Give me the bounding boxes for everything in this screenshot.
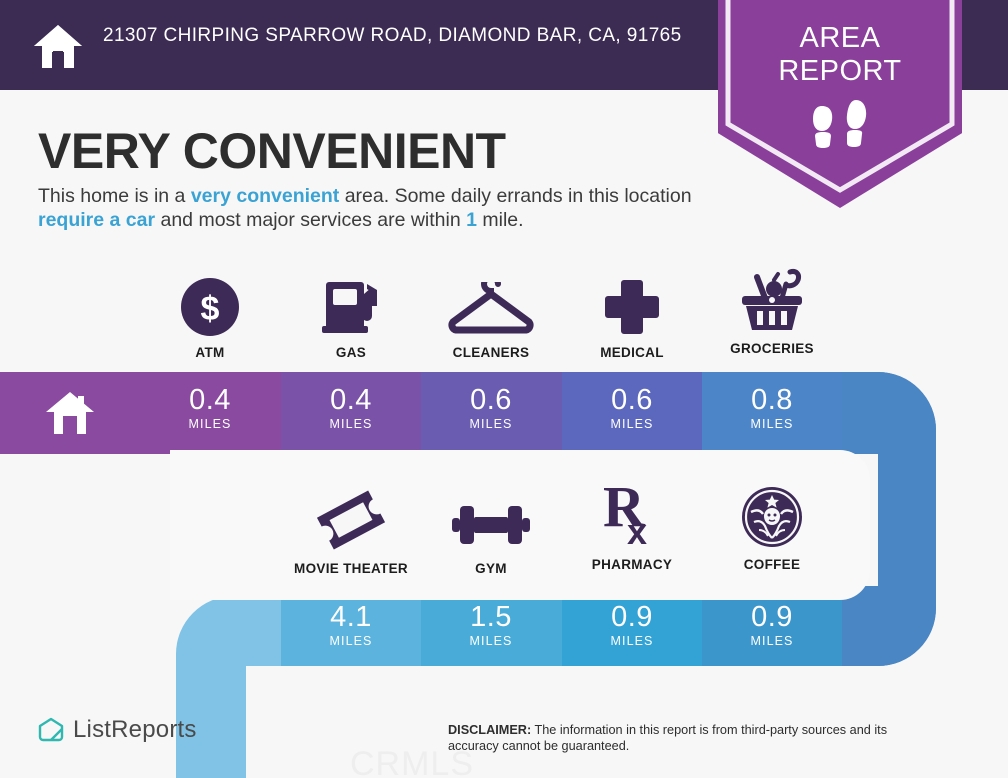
poi-coffee: COFFEE (702, 484, 842, 572)
poi-label-groceries: GROCERIES (702, 341, 842, 356)
poi-label-pharmacy: PHARMACY (562, 557, 702, 572)
poi-pharmacy: R x PHARMACY (562, 484, 702, 572)
property-address: 21307 CHIRPING SPARROW ROAD, DIAMOND BAR… (103, 22, 683, 49)
svg-text:x: x (627, 511, 647, 548)
summary-paragraph: This home is in a very convenient area. … (38, 184, 718, 232)
poi-label-gym: GYM (421, 561, 561, 576)
distance-value-gas: 0.4 (281, 384, 421, 416)
coffee-siren-icon (702, 484, 842, 548)
distance-gas: 0.4 MILES (281, 384, 421, 431)
poi-atm: $ ATM (140, 272, 280, 360)
listreports-house-icon (38, 717, 64, 743)
distance-value-coffee: 0.9 (702, 601, 842, 633)
distance-value-cleaners: 0.6 (421, 384, 561, 416)
house-icon (45, 390, 95, 436)
distance-groceries: 0.8 MILES (702, 384, 842, 431)
listreports-logo[interactable]: ListReports (38, 716, 197, 744)
distance-value-groceries: 0.8 (702, 384, 842, 416)
summary-highlight-2: require a car (38, 209, 155, 231)
distance-unit-movie-theater: MILES (281, 634, 421, 648)
distance-value-atm: 0.4 (140, 384, 280, 416)
movie-ticket-icon (281, 488, 421, 552)
summary-part-4: mile. (477, 209, 524, 231)
distance-unit-cleaners: MILES (421, 417, 561, 431)
listreports-logo-text: ListReports (73, 716, 197, 744)
summary-highlight-3: 1 (466, 209, 477, 231)
medical-cross-icon (562, 272, 702, 336)
poi-label-movie-theater: MOVIE THEATER (281, 561, 421, 576)
poi-movie-theater: MOVIE THEATER (281, 488, 421, 576)
grocery-basket-icon (702, 268, 842, 332)
distance-pharmacy: 0.9 MILES (562, 601, 702, 648)
summary-part-1: This home is in a (38, 185, 191, 207)
distance-unit-pharmacy: MILES (562, 634, 702, 648)
house-icon (32, 20, 84, 72)
distance-cleaners: 0.6 MILES (421, 384, 561, 431)
distance-value-medical: 0.6 (562, 384, 702, 416)
poi-gym: GYM (421, 488, 561, 576)
distance-value-movie-theater: 4.1 (281, 601, 421, 633)
distance-atm: 0.4 MILES (140, 384, 280, 431)
ribbon-seg-tail-1 (842, 372, 942, 454)
distance-unit-medical: MILES (562, 417, 702, 431)
dumbbell-icon (421, 488, 561, 552)
distance-unit-gas: MILES (281, 417, 421, 431)
badge-line-1: AREA (718, 22, 962, 55)
poi-medical: MEDICAL (562, 272, 702, 360)
gas-pump-icon (281, 272, 421, 336)
distance-medical: 0.6 MILES (562, 384, 702, 431)
distance-movie-theater: 4.1 MILES (281, 601, 421, 648)
svg-text:$: $ (201, 290, 220, 328)
poi-groceries: GROCERIES (702, 268, 842, 356)
home-marker (0, 372, 140, 454)
poi-label-medical: MEDICAL (562, 345, 702, 360)
rx-icon: R x (562, 484, 702, 548)
summary-highlight-1: very convenient (191, 185, 339, 207)
disclaimer-label: DISCLAIMER: (448, 723, 531, 737)
summary-part-3: and most major services are within (155, 209, 466, 231)
poi-gas: GAS (281, 272, 421, 360)
footprints-icon (800, 98, 880, 162)
poi-cleaners: CLEANERS (421, 272, 561, 360)
poi-label-coffee: COFFEE (702, 557, 842, 572)
poi-label-gas: GAS (281, 345, 421, 360)
hanger-icon (421, 272, 561, 336)
poi-label-cleaners: CLEANERS (421, 345, 561, 360)
distance-unit-coffee: MILES (702, 634, 842, 648)
disclaimer: DISCLAIMER: The information in this repo… (448, 722, 918, 754)
distance-value-pharmacy: 0.9 (562, 601, 702, 633)
page-title: VERY CONVENIENT (38, 122, 506, 180)
badge-line-2: REPORT (718, 55, 962, 88)
distance-gym: 1.5 MILES (421, 601, 561, 648)
distance-unit-atm: MILES (140, 417, 280, 431)
distance-unit-groceries: MILES (702, 417, 842, 431)
distance-coffee: 0.9 MILES (702, 601, 842, 648)
dollar-circle-icon: $ (140, 272, 280, 336)
badge-title: AREA REPORT (718, 22, 962, 88)
area-report-infographic: 21307 CHIRPING SPARROW ROAD, DIAMOND BAR… (0, 0, 1008, 778)
poi-label-atm: ATM (140, 345, 280, 360)
distance-value-gym: 1.5 (421, 601, 561, 633)
distance-unit-gym: MILES (421, 634, 561, 648)
summary-part-2: area. Some daily errands in this locatio… (339, 185, 691, 207)
